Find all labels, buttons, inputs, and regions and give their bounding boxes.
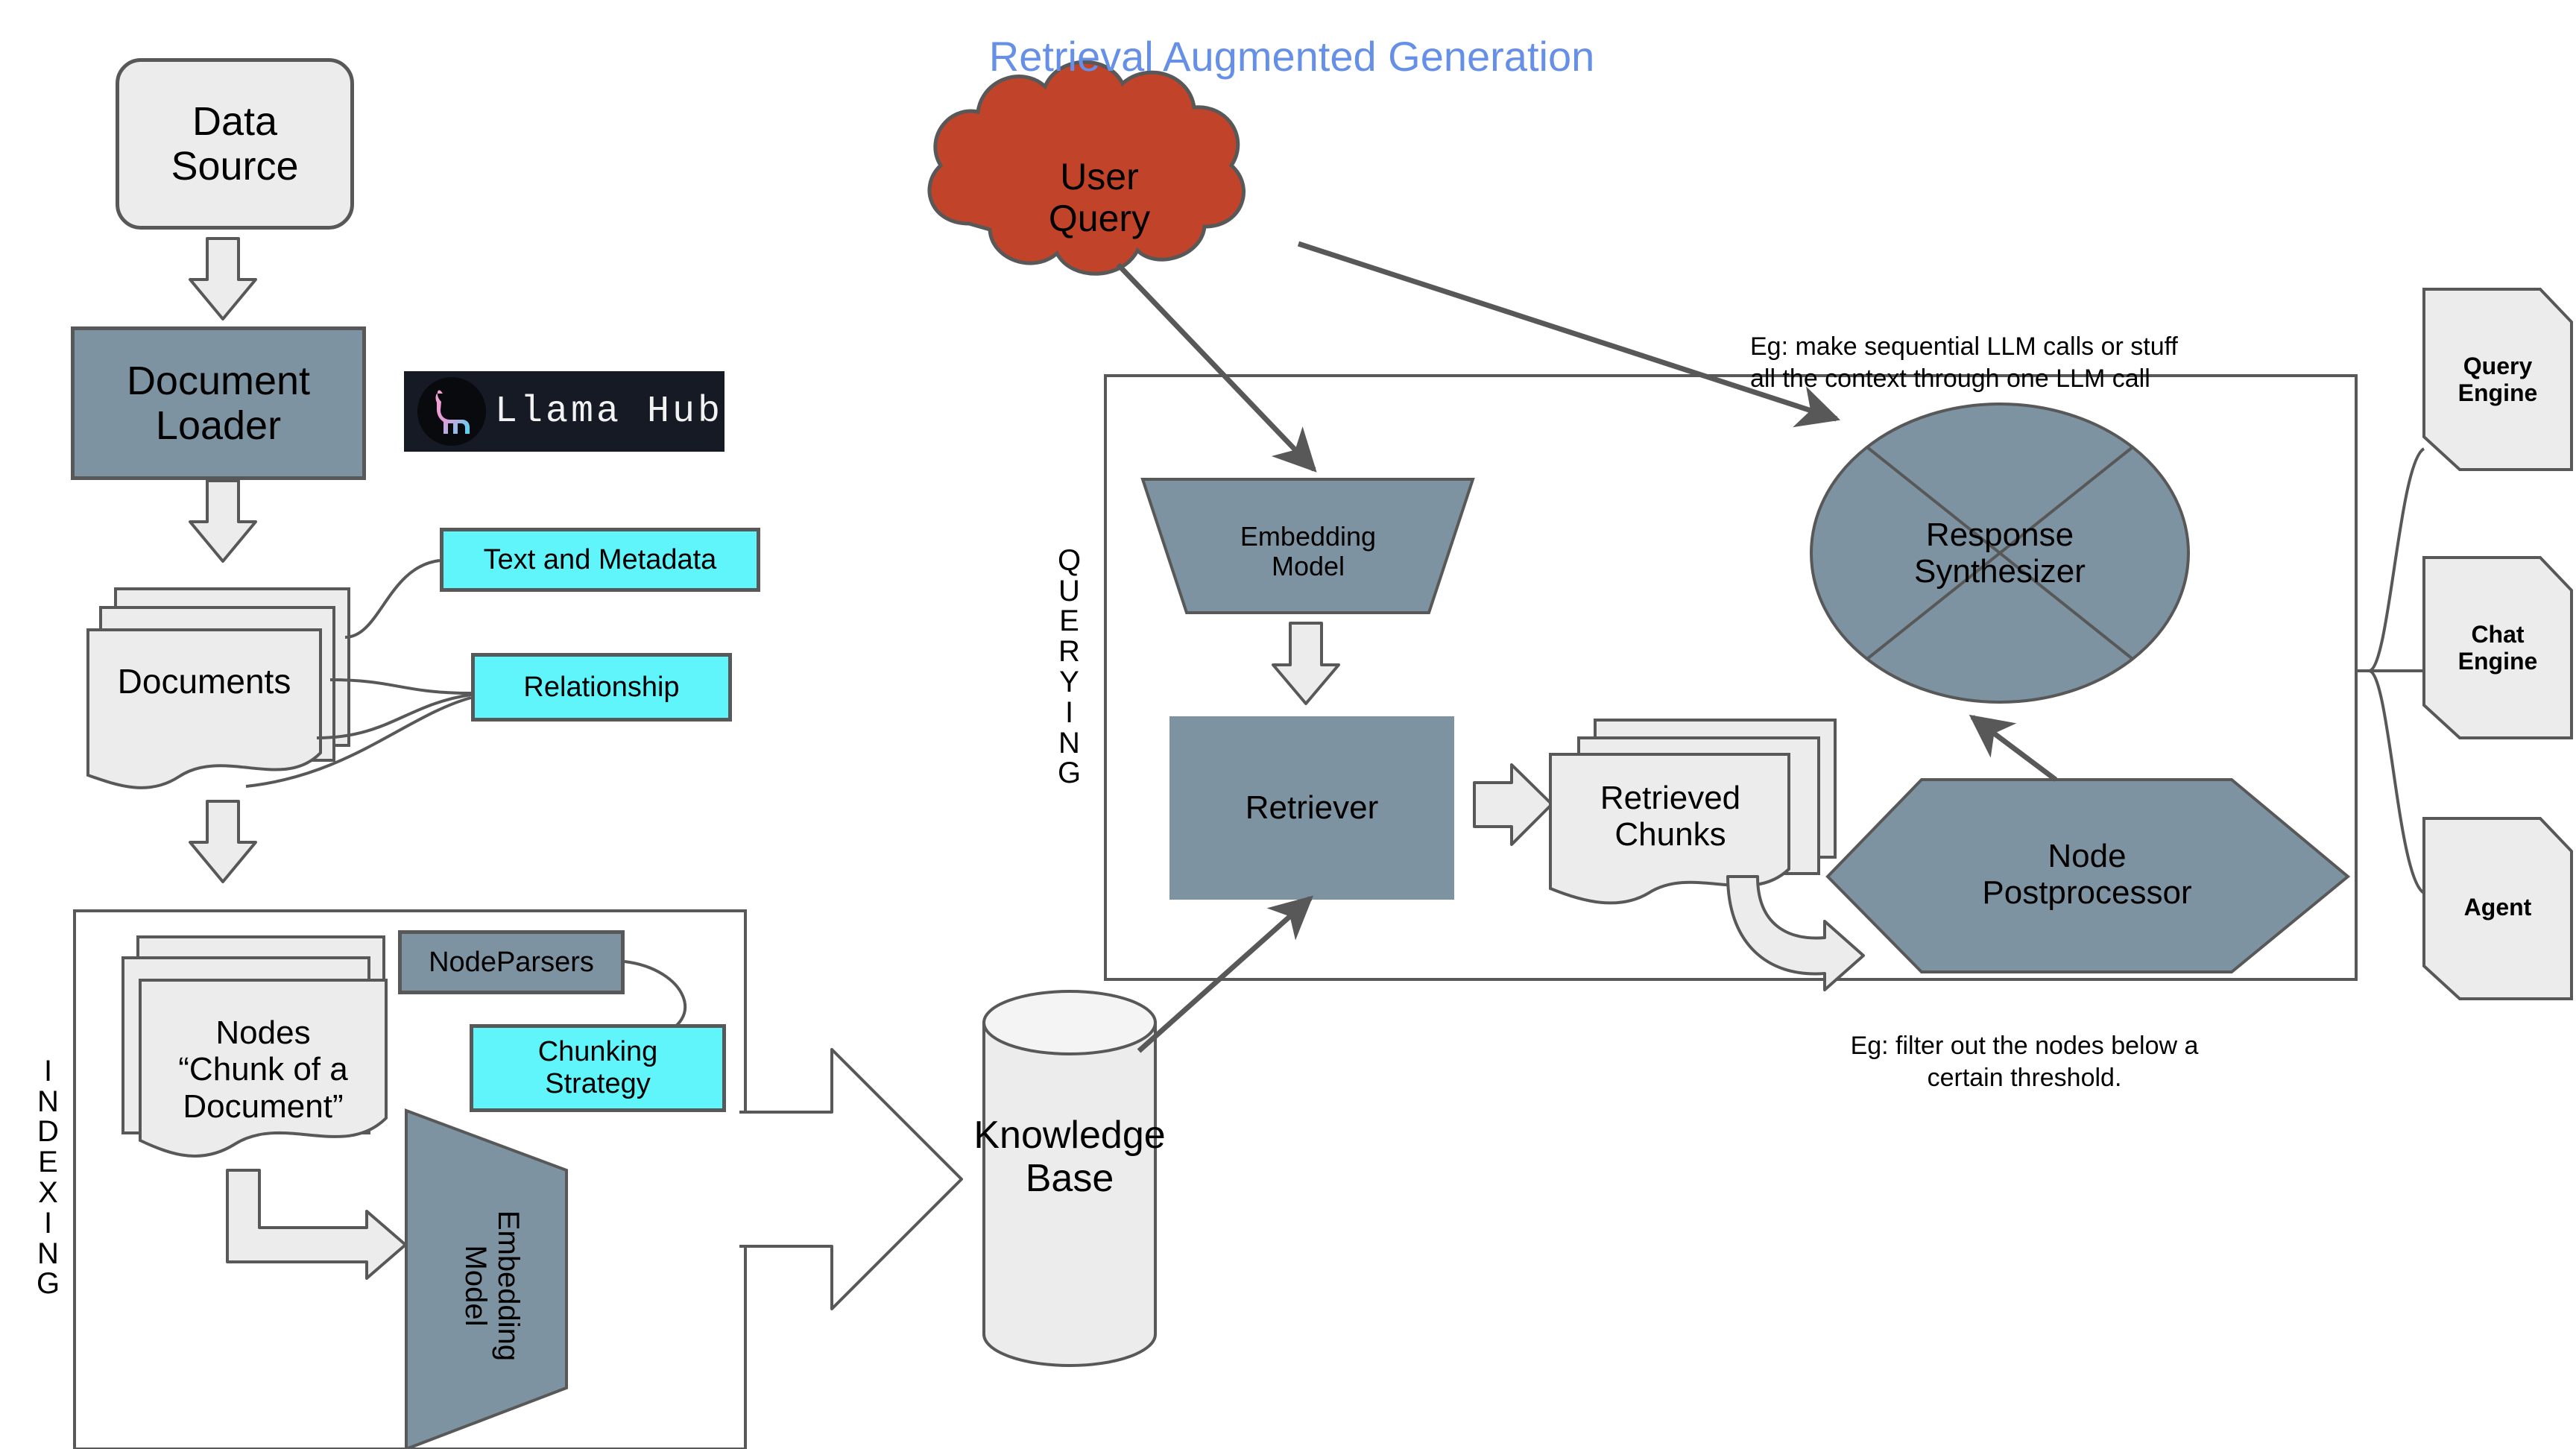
knowledge-base-label: Knowledge Base	[973, 1114, 1165, 1200]
chunking-strategy-node[interactable]: Chunking Strategy	[470, 1024, 726, 1112]
node-postprocessor-label: Node Postprocessor	[1982, 838, 2191, 912]
text-and-metadata-label: Text and Metadata	[484, 544, 717, 576]
arrow-postprocessor-to-synthesizer	[1972, 717, 2056, 780]
embedding-model-indexing-label: Embedding Model	[459, 1210, 525, 1361]
note-llm-calls: Eg: make sequential LLM calls or stuff a…	[1750, 298, 2317, 396]
chat-engine-node[interactable]: Chat Engine	[2424, 611, 2572, 686]
connector-docs-to-relationship	[330, 680, 471, 693]
relationship-label: Relationship	[523, 672, 679, 704]
retriever-label: Retriever	[1246, 789, 1379, 826]
document-loader-node[interactable]: Document Loader	[71, 326, 366, 480]
arrow-embedding-to-retriever	[1273, 623, 1339, 704]
rag-diagram-canvas: Retrieval Augmented Generation I N D E X…	[0, 0, 2576, 1449]
connector-fan-to-query-engine	[2369, 449, 2424, 671]
arrow-nodes-to-embedding-indexing	[227, 1170, 405, 1278]
llama-hub-label: Llama Hub	[495, 391, 723, 433]
data-source-label: Data Source	[171, 99, 298, 189]
query-engine-label: Query Engine	[2458, 353, 2538, 407]
connector-fan-to-agent	[2369, 671, 2424, 893]
page-title-text: Retrieval Augmented Generation	[989, 34, 1595, 80]
arrow-datasource-to-loader	[190, 239, 256, 319]
chunking-strategy-label: Chunking Strategy	[538, 1036, 658, 1099]
node-parsers-node[interactable]: NodeParsers	[398, 930, 625, 994]
user-query-node[interactable]: User Query	[999, 142, 1200, 253]
agent-node[interactable]: Agent	[2424, 885, 2572, 930]
knowledge-base-node[interactable]: Knowledge Base	[984, 1105, 1155, 1209]
indexing-lane-label: I N D E X I N G	[15, 991, 82, 1364]
documents-label: Documents	[118, 663, 291, 701]
relationship-node[interactable]: Relationship	[471, 653, 732, 722]
response-synthesizer-node[interactable]: Response Synthesizer	[1834, 501, 2166, 605]
nodes-node[interactable]: Nodes “Chunk of a Document”	[140, 1006, 386, 1133]
documents-sheet-front	[88, 630, 321, 788]
data-source-node[interactable]: Data Source	[116, 58, 354, 230]
arrow-retriever-to-chunks	[1474, 765, 1552, 845]
query-engine-node[interactable]: Query Engine	[2424, 343, 2572, 417]
document-loader-label: Document Loader	[127, 359, 310, 449]
note-filter-threshold: Eg: filter out the nodes below a certain…	[1756, 997, 2293, 1095]
node-parsers-label: NodeParsers	[429, 947, 594, 979]
connector-docs-to-text-metadata	[345, 561, 440, 637]
llama-icon	[417, 377, 486, 446]
note-llm-calls-text: Eg: make sequential LLM calls or stuff a…	[1750, 332, 2178, 394]
knowledge-base-top	[984, 991, 1155, 1054]
page-title: Retrieval Augmented Generation	[915, 27, 1668, 86]
arrow-kb-to-retriever	[1139, 898, 1310, 1051]
retrieved-chunks-node[interactable]: Retrieved Chunks	[1555, 768, 1786, 865]
llama-hub-badge[interactable]: Llama Hub	[404, 371, 724, 452]
querying-lane-label-text: Q U E R Y I N G	[1058, 546, 1082, 789]
arrow-documents-to-nodes	[190, 801, 256, 882]
embedding-model-indexing-node[interactable]: Embedding Model	[417, 1163, 566, 1409]
node-postprocessor-node[interactable]: Node Postprocessor	[1856, 818, 2318, 930]
retriever-node[interactable]: Retriever	[1170, 780, 1453, 836]
querying-lane-label: Q U E R Y I N G	[1036, 481, 1103, 853]
agent-label: Agent	[2464, 894, 2532, 921]
documents-node[interactable]: Documents	[88, 656, 321, 708]
embedding-model-querying-node[interactable]: Embedding Model	[1187, 514, 1430, 589]
response-synthesizer-label: Response Synthesizer	[1914, 517, 2086, 590]
note-filter-threshold-text: Eg: filter out the nodes below a certain…	[1851, 1032, 2199, 1093]
arrow-userquery-to-embedding	[1118, 265, 1314, 470]
connector-layer	[0, 0, 2576, 1449]
text-and-metadata-node[interactable]: Text and Metadata	[440, 528, 760, 592]
arrow-indexing-to-knowledge-base	[739, 1049, 962, 1309]
embedding-model-querying-label: Embedding Model	[1240, 522, 1376, 582]
indexing-lane-label-text: I N D E X I N G	[37, 1056, 60, 1299]
retrieved-chunks-label: Retrieved Chunks	[1600, 780, 1740, 853]
arrow-loader-to-documents	[190, 481, 256, 561]
chat-engine-label: Chat Engine	[2458, 622, 2538, 675]
user-query-label: User Query	[1049, 156, 1150, 239]
nodes-label: Nodes “Chunk of a Document”	[178, 1014, 347, 1125]
